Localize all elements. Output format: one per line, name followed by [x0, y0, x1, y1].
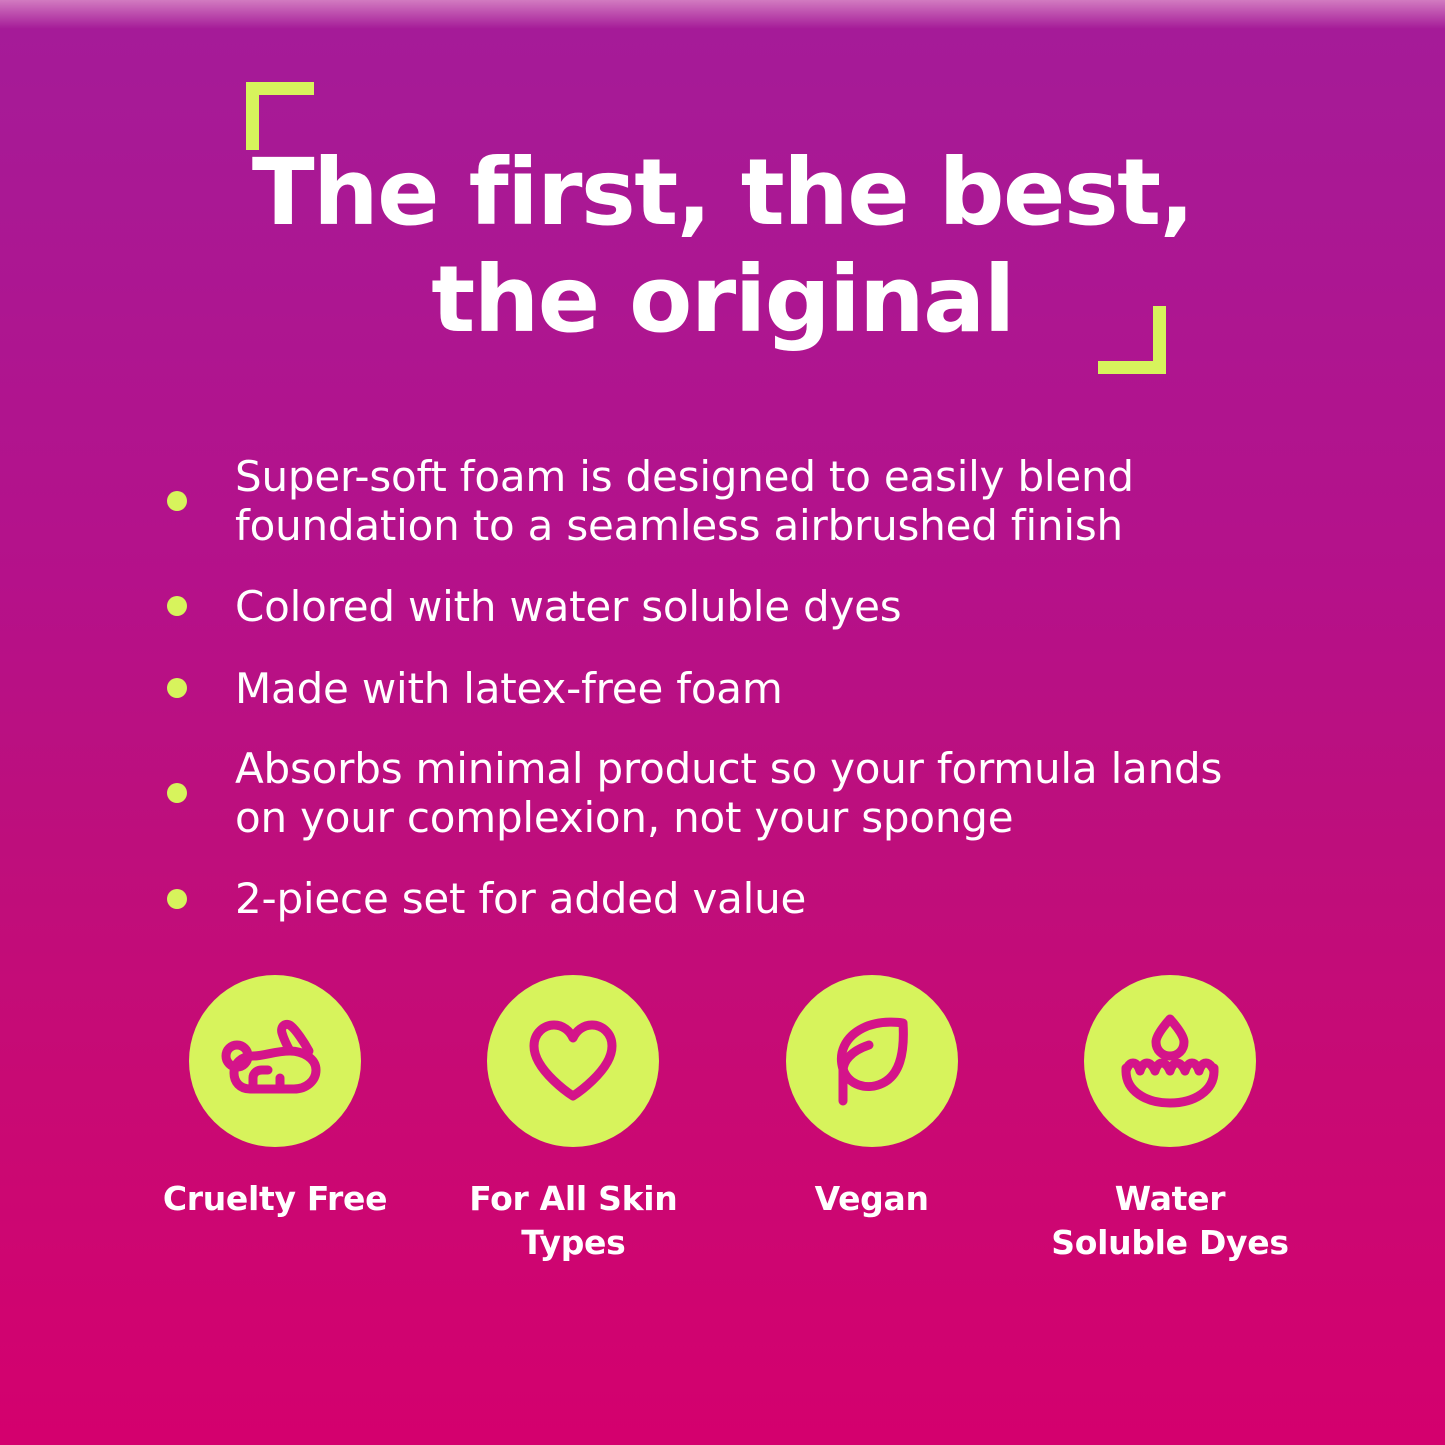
badge-circle	[786, 975, 958, 1147]
badge-circle	[1084, 975, 1256, 1147]
badge-cruelty-free: Cruelty Free	[140, 975, 410, 1264]
list-item-label: Colored with water soluble dyes	[235, 582, 901, 631]
bullet-dot-icon	[167, 783, 187, 803]
rabbit-icon	[220, 1018, 330, 1104]
bullet-dot-icon	[167, 596, 187, 616]
badge-circle	[189, 975, 361, 1147]
list-item-label: Absorbs minimal product so your formula …	[235, 744, 1245, 842]
list-item: 2-piece set for added value	[0, 873, 1445, 925]
list-item: Absorbs minimal product so your formula …	[0, 744, 1445, 842]
page-title-line-1: The first, the best,	[150, 140, 1295, 247]
badge-water-soluble-dyes: Water Soluble Dyes	[1035, 975, 1305, 1264]
list-item: Super-soft foam is designed to easily bl…	[0, 452, 1445, 550]
list-item-label: Super-soft foam is designed to easily bl…	[235, 452, 1245, 550]
page-title: The first, the best, the original	[150, 140, 1295, 353]
product-feature-poster: The first, the best, the original Super-…	[0, 0, 1445, 1445]
badge-circle	[487, 975, 659, 1147]
list-item-label: Made with latex-free foam	[235, 664, 783, 713]
bullet-dot-icon	[167, 889, 187, 909]
bullet-dot-icon	[167, 678, 187, 698]
bullet-dot-icon	[167, 491, 187, 511]
list-item: Colored with water soluble dyes	[0, 580, 1445, 632]
trust-badge-row: Cruelty Free For All Skin Types Vegan	[140, 975, 1305, 1264]
badge-label: Cruelty Free	[163, 1177, 387, 1221]
water-drop-icon	[1118, 1013, 1222, 1109]
badge-label: For All Skin Types	[448, 1177, 698, 1264]
list-item-label: 2-piece set for added value	[235, 874, 806, 923]
leaf-icon	[829, 1015, 915, 1107]
badge-for-all-skin-types: For All Skin Types	[438, 975, 708, 1264]
feature-bullet-list: Super-soft foam is designed to easily bl…	[0, 452, 1445, 955]
badge-label: Water Soluble Dyes	[1045, 1177, 1295, 1264]
heart-icon	[527, 1019, 619, 1103]
badge-vegan: Vegan	[737, 975, 1007, 1264]
page-title-line-2: the original	[150, 247, 1295, 354]
list-item: Made with latex-free foam	[0, 662, 1445, 714]
badge-label: Vegan	[815, 1177, 929, 1221]
